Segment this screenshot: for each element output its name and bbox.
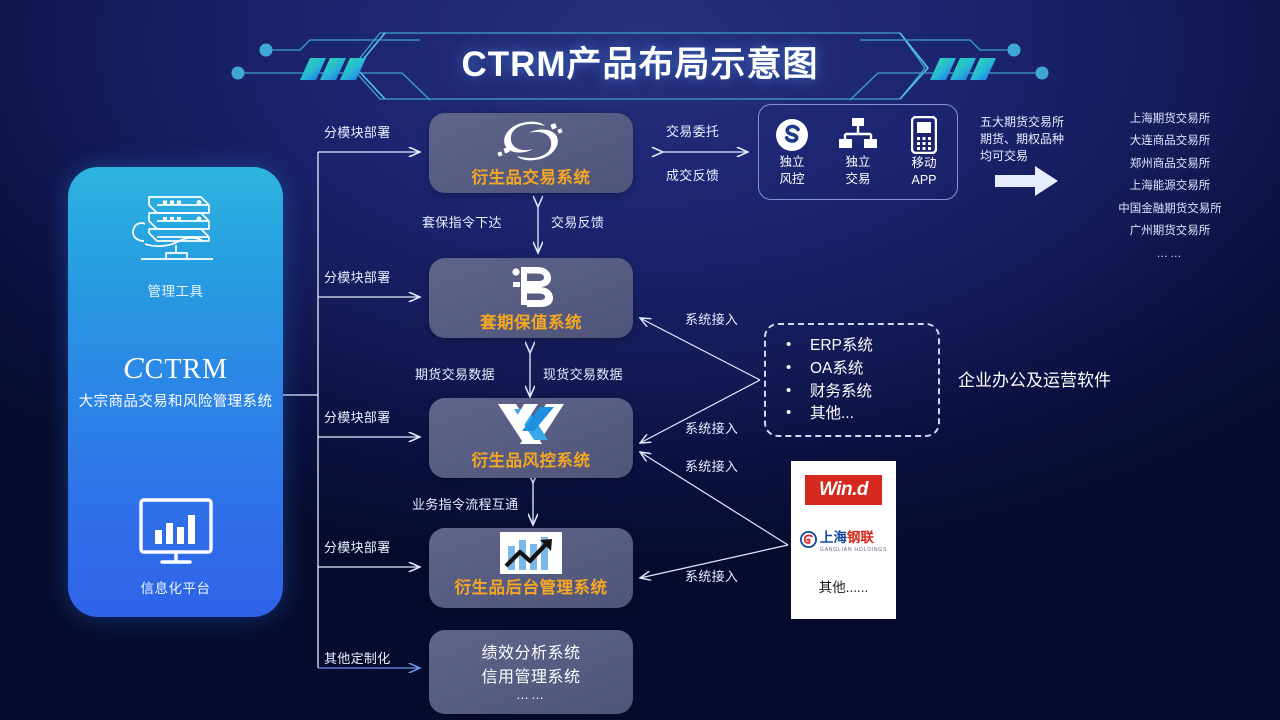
brand-mark: C [123, 350, 145, 385]
list-item: 中国金融期货交易所 [1070, 198, 1270, 220]
flow-label-sys-access-3: 系统接入 [685, 456, 738, 475]
device-label-line1: 独立 [763, 155, 821, 170]
list-item: 广州期货交易所 [1070, 220, 1270, 242]
data-vendor-card[interactable]: Win.d 上海钢联 GANGLIAN HOLDINGS 其他...... [791, 461, 896, 619]
brand-block: CCTRM 大宗商品交易和风险管理系统 [68, 352, 283, 411]
flow-label-biz-interop: 业务指令流程互通 [412, 494, 518, 513]
flow-label-sys-access-2: 系统接入 [685, 418, 738, 437]
ctrm-platform-panel[interactable]: 管理工具 CCTRM 大宗商品交易和风险管理系统 信息化平台 [68, 167, 283, 617]
system-box-backoffice[interactable]: 衍生品后台管理系统 [429, 528, 633, 608]
flow-label-hedge-instruction: 套保指令下达 [422, 212, 502, 231]
device-independent-risk[interactable]: 独立 风控 [763, 117, 821, 187]
panel-bottom-label: 信息化平台 [68, 577, 283, 597]
device-label-line2: APP [895, 173, 953, 188]
right-arrow-icon [995, 166, 1058, 196]
custom-line-1: 绩效分析系统 [429, 639, 633, 663]
list-item: 财务系统 [784, 381, 938, 404]
flow-label-sys-access-4: 系统接入 [685, 566, 738, 585]
wind-logo: Win.d [805, 475, 882, 505]
mobile-phone-icon [911, 116, 937, 154]
x-mark-icon [494, 401, 568, 447]
list-item: 大连商品交易所 [1070, 130, 1270, 152]
device-label-line2: 交易 [829, 172, 887, 187]
device-label-line1: 移动 [895, 156, 953, 171]
list-item: 郑州商品交易所 [1070, 153, 1270, 175]
network-node-icon [839, 117, 877, 153]
diagram-canvas: CTRM产品布局示意图 [0, 0, 1280, 720]
list-item: 上海期货交易所 [1070, 108, 1270, 130]
stylized-b-icon [507, 263, 555, 309]
flow-label-spot-data: 现货交易数据 [543, 364, 623, 383]
deploy-label-3: 分模块部署 [324, 407, 391, 426]
info-platform-block: 信息化平台 [68, 497, 283, 597]
ganglian-logo: 上海钢联 GANGLIAN HOLDINGS [791, 526, 896, 553]
system-box-risk[interactable]: 衍生品风控系统 [429, 398, 633, 478]
flow-label-trade-delegate: 交易委托 [666, 121, 719, 140]
custom-line-3: …… [429, 687, 633, 702]
vendor-other-label: 其他...... [791, 576, 896, 596]
system-box-hedging[interactable]: 套期保值系统 [429, 258, 633, 338]
system-label: 套期保值系统 [429, 309, 633, 333]
device-label-line2: 风控 [763, 172, 821, 187]
ganglian-cn-blue: 上海 [820, 530, 847, 545]
enterprise-software-box[interactable]: ERP系统 OA系统 财务系统 其他... [764, 323, 940, 437]
system-label: 衍生品后台管理系统 [429, 574, 633, 598]
deploy-label-4: 分模块部署 [324, 537, 391, 556]
enterprise-software-caption: 企业办公及运营软件 [958, 366, 1111, 391]
ganglian-cn-red: 钢联 [847, 530, 874, 545]
brand-name: CTRM [145, 354, 228, 385]
panel-top-label: 管理工具 [68, 280, 283, 300]
ganglian-subtitle: GANGLIAN HOLDINGS [820, 547, 887, 553]
list-item: ERP系统 [784, 335, 938, 358]
flow-label-sys-access-1: 系统接入 [685, 309, 738, 328]
list-item: 上海能源交易所 [1070, 175, 1270, 197]
exchange-note-line1: 五大期货交易所 [980, 114, 1080, 131]
device-independent-trading[interactable]: 独立 交易 [829, 117, 887, 187]
ganglian-mark-icon [800, 531, 817, 548]
device-mobile-app[interactable]: 移动 APP [895, 116, 953, 188]
cloud-server-icon [121, 189, 231, 274]
deploy-label-5: 其他定制化 [324, 648, 391, 667]
bar-chart-arrow-icon [500, 532, 562, 574]
system-box-trading[interactable]: 衍生品交易系统 [429, 113, 633, 193]
device-label-line1: 独立 [829, 155, 887, 170]
flow-label-trade-feedback-2: 交易反馈 [551, 212, 604, 231]
deploy-label-1: 分模块部署 [324, 122, 391, 141]
brand-logo: CCTRM [68, 352, 283, 384]
system-label: 衍生品风控系统 [429, 447, 633, 471]
flow-label-trade-feedback: 成交反馈 [666, 165, 719, 184]
s-circle-icon [774, 117, 810, 153]
terminal-devices-panel[interactable]: 独立 风控 独立 交易 移动 AP [758, 104, 958, 200]
list-item: …… [1070, 243, 1270, 265]
custom-line-2: 信用管理系统 [429, 663, 633, 687]
brand-subtitle: 大宗商品交易和风险管理系统 [68, 390, 283, 411]
exchange-note-line3: 均可交易 [980, 148, 1080, 165]
flow-label-futures-data: 期货交易数据 [415, 364, 495, 383]
cloud-server-block: 管理工具 [68, 189, 283, 300]
swirl-s-icon [495, 118, 567, 164]
exchange-note: 五大期货交易所 期货、期权品种 均可交易 [980, 114, 1080, 165]
system-box-custom[interactable]: 绩效分析系统 信用管理系统 …… [429, 630, 633, 714]
list-item: 其他... [784, 403, 938, 426]
monitor-chart-icon [136, 497, 216, 569]
exchange-note-line2: 期货、期权品种 [980, 131, 1080, 148]
page-title: CTRM产品布局示意图 [0, 36, 1280, 87]
exchange-list: 上海期货交易所 大连商品交易所 郑州商品交易所 上海能源交易所 中国金融期货交易… [1070, 108, 1270, 265]
list-item: OA系统 [784, 358, 938, 381]
deploy-label-2: 分模块部署 [324, 267, 391, 286]
system-label: 衍生品交易系统 [429, 164, 633, 188]
